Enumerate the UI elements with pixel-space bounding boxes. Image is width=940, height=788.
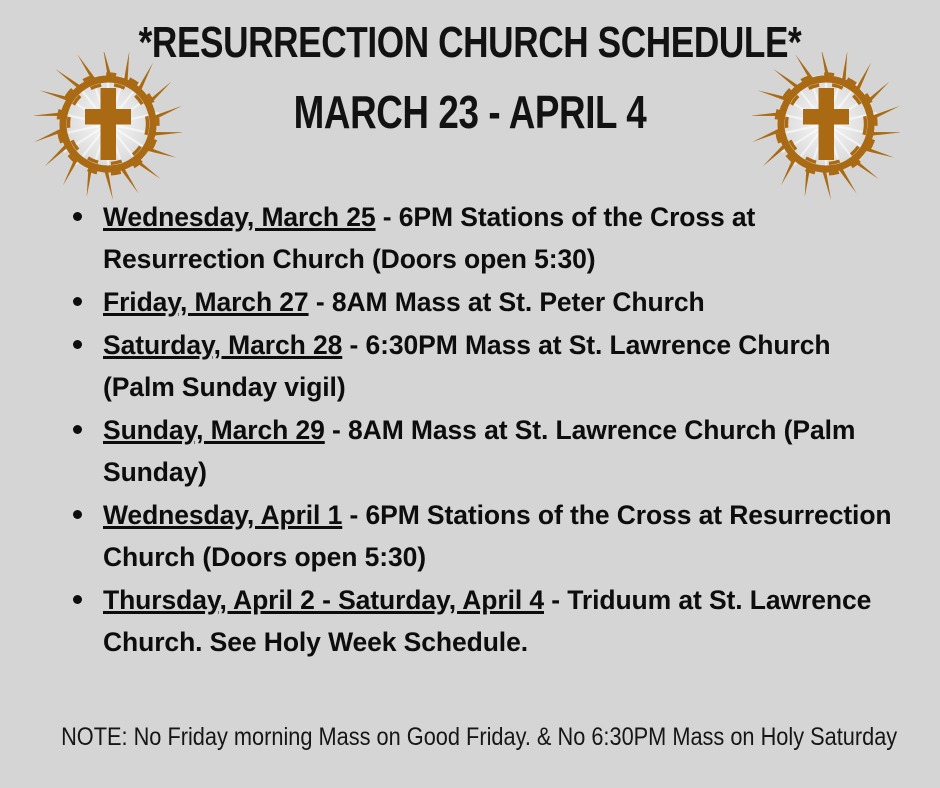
event-date: Saturday, March 28 bbox=[103, 330, 342, 360]
bullet-icon bbox=[73, 212, 82, 221]
list-item: Wednesday, April 1 - 6PM Stations of the… bbox=[62, 494, 892, 578]
list-item: Thursday, April 2 - Saturday, April 4 - … bbox=[62, 579, 892, 663]
list-item: Saturday, March 28 - 6:30PM Mass at St. … bbox=[62, 324, 892, 408]
event-details: - 8AM Mass at St. Peter Church bbox=[309, 287, 705, 317]
poster-title-block: *RESURRECTION CHURCH SCHEDULE* MARCH 23 … bbox=[0, 18, 940, 140]
bullet-icon bbox=[73, 340, 82, 349]
bullet-icon bbox=[73, 425, 82, 434]
event-date: Sunday, March 29 bbox=[103, 415, 325, 445]
list-item: Sunday, March 29 - 8AM Mass at St. Lawre… bbox=[62, 409, 892, 493]
bullet-icon bbox=[73, 510, 82, 519]
list-item: Friday, March 27 - 8AM Mass at St. Peter… bbox=[62, 281, 892, 323]
page-title: *RESURRECTION CHURCH SCHEDULE* bbox=[94, 18, 846, 68]
event-date: Thursday, April 2 - Saturday, April 4 bbox=[103, 585, 544, 615]
bullet-icon bbox=[73, 595, 82, 604]
event-date: Friday, March 27 bbox=[103, 287, 309, 317]
schedule-list: Wednesday, March 25 - 6PM Stations of th… bbox=[62, 196, 892, 664]
page-subtitle-date-range: MARCH 23 - APRIL 4 bbox=[94, 84, 846, 140]
event-date: Wednesday, March 25 bbox=[103, 202, 376, 232]
list-item: Wednesday, March 25 - 6PM Stations of th… bbox=[62, 196, 892, 280]
poster-header: *RESURRECTION CHURCH SCHEDULE* MARCH 23 … bbox=[0, 0, 940, 200]
bullet-icon bbox=[73, 297, 82, 306]
event-date: Wednesday, April 1 bbox=[103, 500, 342, 530]
church-schedule-poster: *RESURRECTION CHURCH SCHEDULE* MARCH 23 … bbox=[0, 0, 940, 788]
footer-note: NOTE: No Friday morning Mass on Good Fri… bbox=[61, 722, 879, 752]
